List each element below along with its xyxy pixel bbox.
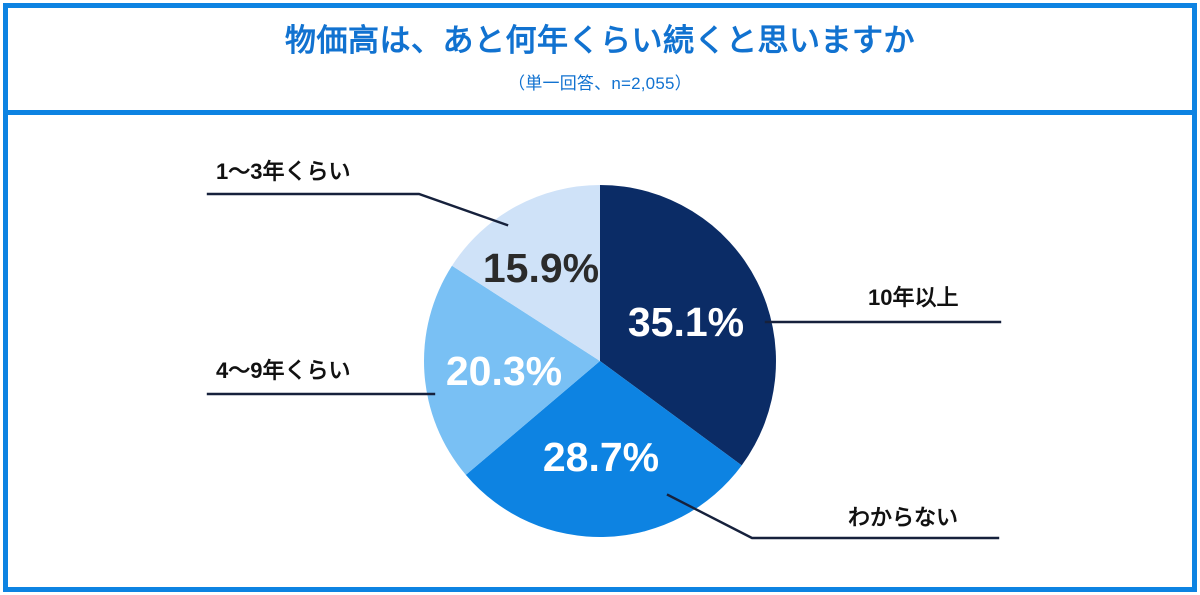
callout-label-10-years-or-more: 10年以上 bbox=[868, 285, 958, 310]
leader-line-1-to-3-years bbox=[208, 194, 507, 225]
pie-value-label-4-to-9-years: 20.3% bbox=[446, 348, 562, 394]
callout-label-dont-know: わからない bbox=[848, 505, 958, 530]
pie-chart: 35.1% 28.7% 20.3% 15.9% 10年以上 わからない 4〜9年… bbox=[0, 0, 1200, 595]
pie-value-label-dont-know: 28.7% bbox=[543, 434, 659, 480]
callout-label-4-to-9-years: 4〜9年くらい bbox=[216, 358, 350, 383]
pie-value-label-10-years-or-more: 35.1% bbox=[628, 299, 744, 345]
pie-value-label-1-to-3-years: 15.9% bbox=[483, 245, 599, 291]
infographic-canvas: 物価高は、あと何年くらい続くと思いますか （単一回答、n=2,055） 35.1… bbox=[0, 0, 1200, 595]
callout-label-1-to-3-years: 1〜3年くらい bbox=[216, 159, 350, 184]
